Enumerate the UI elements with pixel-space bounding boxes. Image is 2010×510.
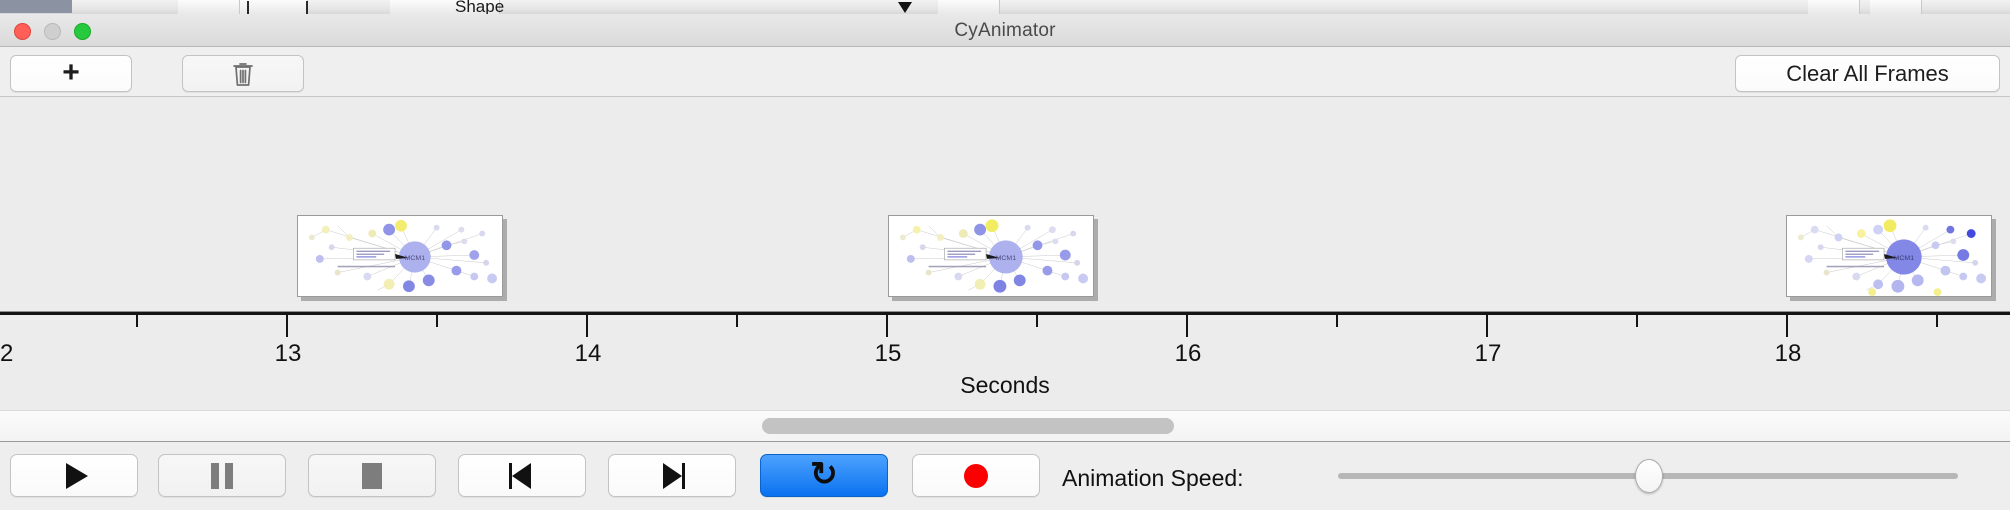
loop-button[interactable]: ↻ [760,454,888,497]
trash-icon [232,61,254,87]
plus-icon: + [62,58,80,88]
ruler-minor-tick [736,315,738,327]
record-icon [964,464,988,488]
network-graph-thumbnail: MCM1 [298,216,502,296]
background-window-tab [240,0,308,14]
ruler-tick-label: 13 [275,340,302,368]
svg-text:MCM1: MCM1 [405,255,426,262]
ruler-minor-tick [436,315,438,327]
loop-icon: ↻ [810,457,838,490]
ruler-tick-label: 14 [575,340,602,368]
record-button[interactable] [912,454,1040,497]
ruler-tick-label: 12 [0,340,13,368]
animation-speed-slider[interactable] [1338,470,1958,481]
network-graph-thumbnail: MCM1 [1787,216,1991,296]
background-window-tab [1808,0,1860,14]
network-graph-thumbnail: MCM1 [889,216,1093,296]
ruler-minor-tick [1036,315,1038,327]
pause-icon [211,463,233,489]
background-window-caret-icon [898,2,912,13]
stop-icon [362,463,382,489]
timeline-frame-track[interactable]: MCM1 [0,97,2010,312]
ruler-major-tick [286,315,288,337]
background-window-strip: Shape [0,0,2010,14]
ruler-tick-label: 16 [1175,340,1202,368]
background-window-divider [306,1,308,14]
svg-text:MCM1: MCM1 [1894,255,1915,262]
ruler-major-tick [1486,315,1488,337]
delete-frame-button[interactable] [182,55,304,92]
title-bar: CyAnimator [0,14,2010,47]
timeline-horizontal-scrollbar[interactable] [0,410,2010,442]
background-window-label: Shape [455,0,504,14]
clear-all-frames-button[interactable]: Clear All Frames [1735,55,2000,92]
svg-text:MCM1: MCM1 [996,255,1017,262]
background-window-divider [247,1,249,14]
playback-control-bar: ↻ Animation Speed: [0,442,2010,510]
ruler-axis-line [0,312,2010,315]
ruler-major-tick [1186,315,1188,337]
clear-all-frames-label: Clear All Frames [1786,61,1949,87]
stop-button[interactable] [308,454,436,497]
window-title: CyAnimator [0,20,2010,42]
skip-back-icon [509,463,535,489]
pause-button[interactable] [158,454,286,497]
background-window-tab [938,0,1000,14]
background-window-tab [1870,0,1922,14]
ruler-minor-tick [1636,315,1638,327]
timeline-frame-thumbnail[interactable]: MCM1 [297,215,503,297]
ruler-minor-tick [1936,315,1938,327]
play-icon [66,463,88,489]
timeline-ruler: 12 13 14 15 16 17 18 Seconds [0,312,2010,410]
ruler-major-tick [586,315,588,337]
skip-to-start-button[interactable] [458,454,586,497]
background-window-dark-tab [0,0,72,13]
ruler-minor-tick [136,315,138,327]
add-frame-button[interactable]: + [10,55,132,92]
background-window-tab [178,0,240,14]
play-button[interactable] [10,454,138,497]
ruler-minor-tick [1336,315,1338,327]
ruler-major-tick [1786,315,1788,337]
skip-to-end-button[interactable] [608,454,736,497]
ruler-tick-label: 17 [1475,340,1502,368]
timeline-frame-thumbnail[interactable]: MCM1 [1786,215,1992,297]
scrollbar-thumb[interactable] [762,418,1174,434]
cyanimator-window: Shape CyAnimator + Clear All Frames [0,0,2010,510]
animation-speed-label: Animation Speed: [1062,465,1244,492]
skip-forward-icon [659,463,685,489]
ruler-tick-label: 18 [1775,340,1802,368]
frame-toolbar: + Clear All Frames [0,47,2010,97]
ruler-axis-title: Seconds [0,372,2010,399]
timeline-frame-thumbnail[interactable]: MCM1 [888,215,1094,297]
slider-thumb[interactable] [1635,459,1663,493]
ruler-major-tick [886,315,888,337]
ruler-tick-label: 15 [875,340,902,368]
